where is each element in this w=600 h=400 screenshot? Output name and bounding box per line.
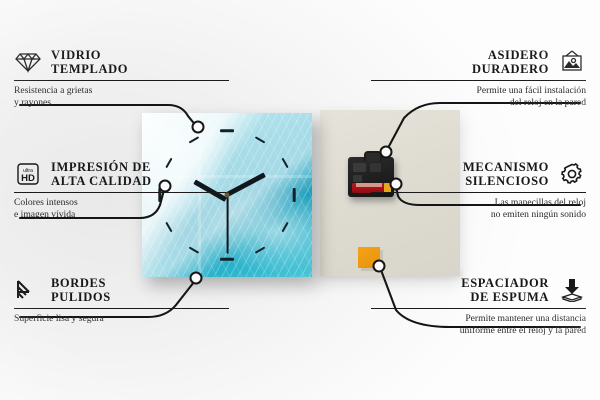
ultra-hd-badge-icon: ultra HD: [14, 160, 42, 188]
feature-espaciador-de-espuma: ESPACIADOR DE ESPUMA Permite mantener un…: [371, 276, 586, 337]
feature-asidero-duradero: ASIDERO DURADERO Permite una fácil insta…: [371, 48, 586, 109]
feature-subtitle: Resistencia a grietas y rayones: [14, 85, 229, 108]
polished-edges-icon: [14, 276, 42, 304]
connector-asidero: [388, 103, 580, 148]
feature-subtitle: Permite una fácil instalación del reloj …: [371, 85, 586, 108]
connector-dot-asidero: [380, 146, 393, 159]
divider: [371, 192, 586, 193]
connector-dot-vidrio: [192, 121, 205, 134]
divider: [14, 308, 229, 309]
feature-subtitle: Las manecillas del reloj no emiten ningú…: [371, 197, 586, 220]
hanging-frame-icon: [558, 48, 586, 76]
press-down-arrow-icon: [558, 276, 586, 304]
connector-dot-bordes: [190, 272, 203, 285]
connector-dot-mecanismo: [390, 178, 403, 191]
divider: [14, 192, 229, 193]
svg-text:HD: HD: [21, 173, 35, 184]
divider: [371, 308, 586, 309]
feature-subtitle: Colores intensos e imagen vívida: [14, 197, 229, 220]
feature-title: MECANISMO SILENCIOSO: [463, 160, 549, 188]
feature-title: ASIDERO DURADERO: [472, 48, 549, 76]
feature-title: BORDES PULIDOS: [51, 276, 111, 304]
connector-dot-espaciador: [373, 260, 386, 273]
clock-hub: [225, 193, 230, 198]
diamond-icon: [14, 48, 42, 76]
infographic-canvas: VIDRIO TEMPLADO Resistencia a grietas y …: [0, 0, 600, 400]
gear-icon: [558, 160, 586, 188]
divider: [14, 80, 229, 81]
feature-subtitle: Superficie lisa y segura: [14, 313, 229, 325]
feature-impresion-alta-calidad: ultra HD IMPRESIÓN DE ALTA CALIDAD Color…: [14, 160, 229, 221]
feature-title: ESPACIADOR DE ESPUMA: [461, 276, 549, 304]
feature-mecanismo-silencioso: MECANISMO SILENCIOSO Las manecillas del …: [371, 160, 586, 221]
divider: [371, 80, 586, 81]
feature-vidrio-templado: VIDRIO TEMPLADO Resistencia a grietas y …: [14, 48, 229, 109]
feature-title: IMPRESIÓN DE ALTA CALIDAD: [51, 160, 152, 188]
feature-title: VIDRIO TEMPLADO: [51, 48, 128, 76]
connector-dot-impresion: [159, 180, 172, 193]
feature-subtitle: Permite mantener una distancia uniforme …: [371, 313, 586, 336]
